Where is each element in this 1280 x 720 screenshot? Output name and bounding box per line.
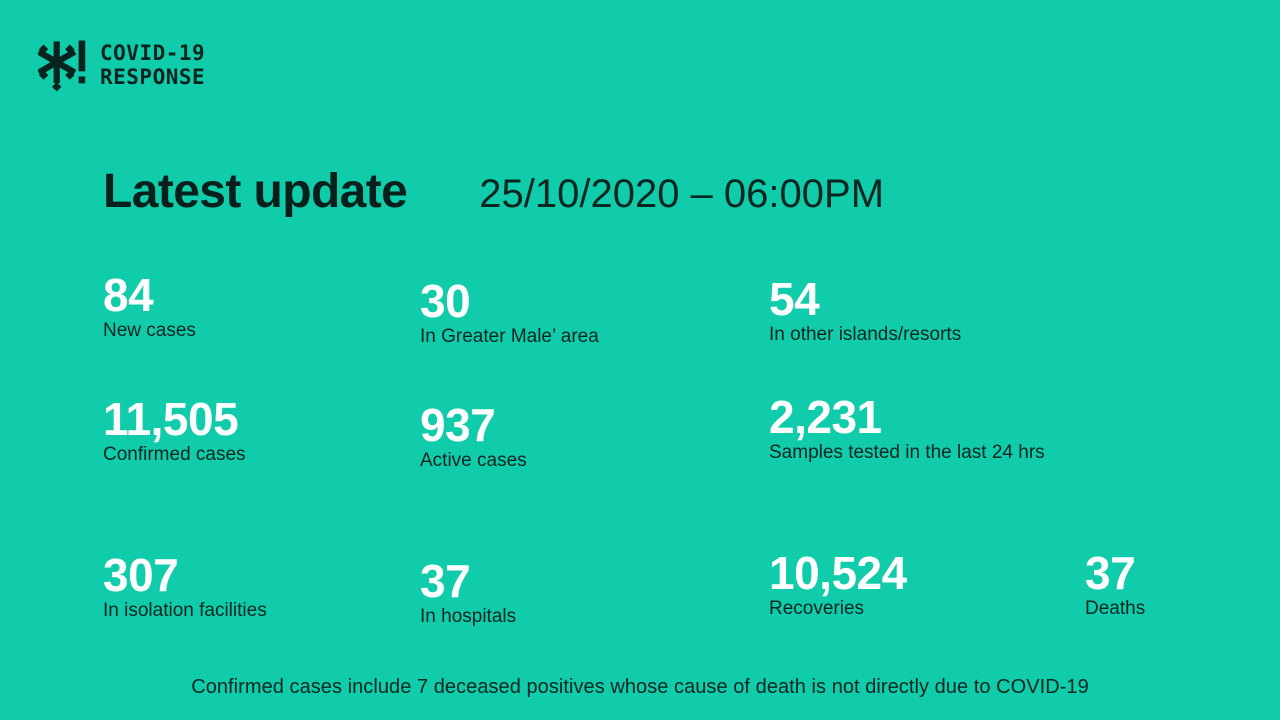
stat-samples-tested-24hrs: 2,231 Samples tested in the last 24 hrs — [769, 394, 1045, 464]
stat-label: In isolation facilities — [103, 601, 267, 622]
stat-value: 2,231 — [769, 394, 1045, 441]
stat-label: Recoveries — [769, 599, 907, 620]
stats-row-cumulative: 11,505 Confirmed cases 937 Active cases … — [0, 396, 1280, 491]
stat-value: 84 — [103, 272, 196, 319]
stat-label: Deaths — [1085, 599, 1145, 620]
stat-value: 937 — [420, 402, 527, 449]
stat-deaths: 37 Deaths — [1085, 550, 1145, 620]
stat-value: 37 — [420, 558, 516, 605]
stat-value: 307 — [103, 552, 267, 599]
page-title: Latest update — [103, 168, 407, 216]
stat-confirmed-cases: 11,505 Confirmed cases — [103, 396, 246, 466]
stat-value: 37 — [1085, 550, 1145, 597]
stat-label: New cases — [103, 321, 196, 342]
brand-line-1: COVID-19 — [100, 42, 205, 66]
asterisk-burst-exclamation-icon — [38, 38, 90, 93]
stat-recoveries: 10,524 Recoveries — [769, 550, 907, 620]
stat-other-islands-resorts: 54 In other islands/resorts — [769, 276, 961, 346]
stat-label: Confirmed cases — [103, 445, 246, 466]
stats-row-outcomes: 307 In isolation facilities 37 In hospit… — [0, 552, 1280, 647]
covid-dashboard-slide: { "brand": { "mark_icon": "asterisk-burs… — [0, 0, 1280, 720]
stat-in-hospitals: 37 In hospitals — [420, 558, 516, 628]
stat-isolation-facilities: 307 In isolation facilities — [103, 552, 267, 622]
brand-wordmark: COVID-19 RESPONSE — [100, 42, 205, 89]
stat-value: 30 — [420, 278, 599, 325]
brand-logo: COVID-19 RESPONSE — [38, 38, 205, 93]
footnote: Confirmed cases include 7 deceased posit… — [0, 676, 1280, 699]
stat-label: In Greater Male’ area — [420, 327, 599, 348]
headline: Latest update 25/10/2020 – 06:00PM — [103, 168, 884, 216]
stat-value: 10,524 — [769, 550, 907, 597]
brand-line-2: RESPONSE — [100, 66, 205, 90]
stat-greater-male-area: 30 In Greater Male’ area — [420, 278, 599, 348]
stat-label: Samples tested in the last 24 hrs — [769, 443, 1045, 464]
stat-label: Active cases — [420, 451, 527, 472]
stat-label: In other islands/resorts — [769, 325, 961, 346]
stat-active-cases: 937 Active cases — [420, 402, 527, 472]
stat-new-cases: 84 New cases — [103, 272, 196, 342]
stats-row-new-cases: 84 New cases 30 In Greater Male’ area 54… — [0, 272, 1280, 367]
update-timestamp: 25/10/2020 – 06:00PM — [479, 174, 884, 214]
stat-value: 54 — [769, 276, 961, 323]
stat-label: In hospitals — [420, 607, 516, 628]
stat-value: 11,505 — [103, 396, 246, 443]
